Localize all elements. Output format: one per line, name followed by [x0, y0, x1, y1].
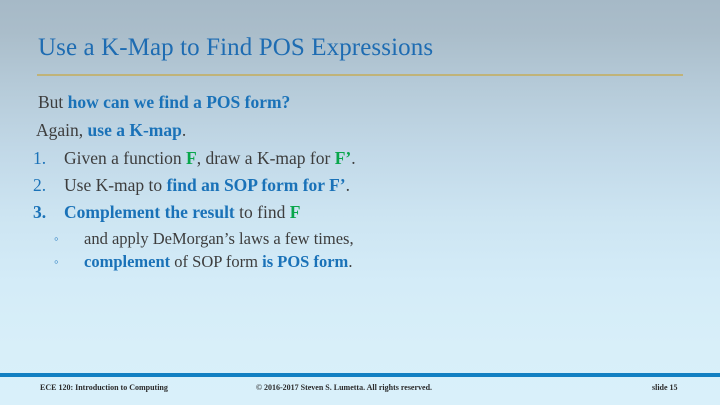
- numbered-list-item: 2. Use K-map to find an SOP form for F’.: [0, 175, 720, 195]
- text-run: Complement the result: [64, 202, 235, 222]
- text-run: to find: [235, 202, 290, 222]
- text-run: use a K-map: [88, 120, 182, 140]
- footer-divider-rule: [0, 373, 720, 377]
- numbered-list-item: 3. Complement the result to find F: [0, 202, 720, 222]
- text-run: of SOP form: [170, 252, 262, 271]
- numbered-list-item: 1. Given a function F, draw a K-map for …: [0, 148, 720, 168]
- text-run: .: [182, 120, 186, 140]
- list-number: 1.: [33, 148, 59, 168]
- hollow-circle-bullet-icon: ◦: [54, 229, 59, 248]
- sub-list-item-text: and apply DeMorgan’s laws a few times,: [84, 229, 354, 248]
- slide-footer: ECE 120: Introduction to Computing © 201…: [0, 383, 720, 399]
- footer-slide-number: slide 15: [652, 383, 678, 392]
- text-run: .: [348, 252, 352, 271]
- list-number: 2.: [33, 175, 59, 195]
- text-run: , draw a K-map for: [197, 148, 335, 168]
- text-run: .: [351, 148, 355, 168]
- text-run: how can we find a POS form?: [68, 92, 291, 112]
- sub-list-item: ◦ and apply DeMorgan’s laws a few times,: [0, 229, 720, 248]
- text-run: find an SOP form for F’: [167, 175, 346, 195]
- list-item-text: Use K-map to find an SOP form for F’.: [64, 175, 350, 195]
- list-item-text: Given a function F, draw a K-map for F’.: [64, 148, 356, 168]
- sub-list-item: ◦ complement of SOP form is POS form.: [0, 252, 720, 271]
- text-run: and apply DeMorgan’s laws a few times,: [84, 229, 354, 248]
- body-paragraph: But how can we find a POS form?: [0, 92, 720, 112]
- text-run: complement: [84, 252, 170, 271]
- text-run: is POS form: [262, 252, 348, 271]
- text-run: F: [290, 202, 301, 222]
- text-run: Use K-map to: [64, 175, 167, 195]
- text-run: F: [186, 148, 197, 168]
- slide-body: But how can we find a POS form? Again, u…: [0, 92, 720, 275]
- text-run: Again,: [36, 120, 88, 140]
- title-underline-rule: [37, 74, 683, 76]
- slide-canvas: Use a K-Map to Find POS Expressions But …: [0, 0, 720, 405]
- sub-list-item-text: complement of SOP form is POS form.: [84, 252, 352, 271]
- page-title: Use a K-Map to Find POS Expressions: [38, 33, 433, 63]
- hollow-circle-bullet-icon: ◦: [54, 252, 59, 271]
- footer-copyright-label: © 2016-2017 Steven S. Lumetta. All right…: [256, 383, 432, 392]
- text-run: But: [38, 92, 68, 112]
- list-item-text: Complement the result to find F: [64, 202, 300, 222]
- text-run: Given a function: [64, 148, 186, 168]
- body-paragraph: Again, use a K-map.: [0, 120, 720, 140]
- text-run: .: [346, 175, 350, 195]
- text-run: F’: [335, 148, 352, 168]
- footer-course-label: ECE 120: Introduction to Computing: [40, 383, 168, 392]
- list-number: 3.: [33, 202, 59, 222]
